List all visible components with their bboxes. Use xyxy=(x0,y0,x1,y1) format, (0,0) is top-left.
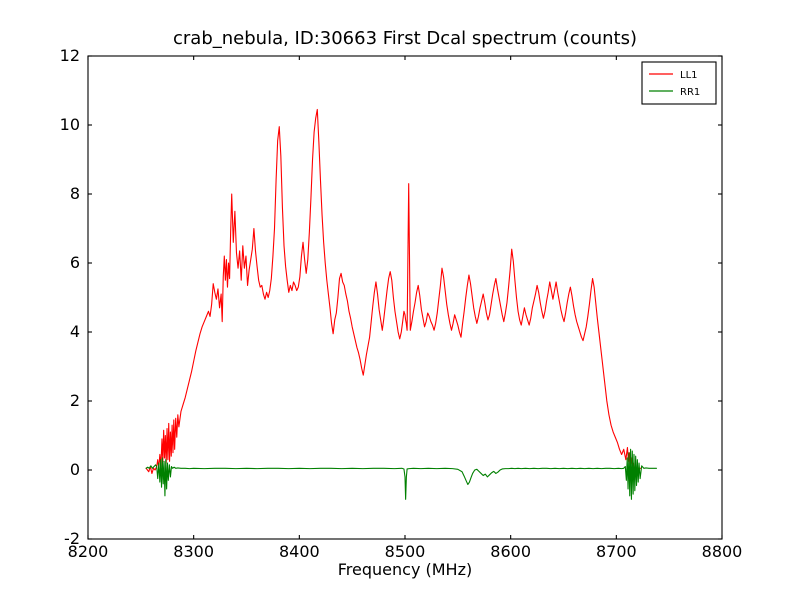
x-tick-label: 8600 xyxy=(490,542,531,561)
y-tick-label: 12 xyxy=(60,46,80,65)
y-tick-label: 2 xyxy=(70,391,80,410)
y-tick-label: 10 xyxy=(60,115,80,134)
legend-label-ll1: LL1 xyxy=(680,70,698,81)
y-tick-label: 0 xyxy=(70,460,80,479)
y-tick-label: 6 xyxy=(70,253,80,272)
y-tick-label: 8 xyxy=(70,184,80,203)
legend-box xyxy=(642,62,716,104)
x-tick-label: 8700 xyxy=(596,542,637,561)
x-tick-label: 8400 xyxy=(279,542,320,561)
legend: LL1RR1 xyxy=(642,62,716,104)
y-tick-label: -2 xyxy=(64,529,80,548)
spectrum-plot: crab_nebula, ID:30663 First Dcal spectru… xyxy=(0,0,800,600)
x-tick-label: 8800 xyxy=(702,542,743,561)
figure-canvas: crab_nebula, ID:30663 First Dcal spectru… xyxy=(0,0,800,600)
page-title: crab_nebula, ID:30663 First Dcal spectru… xyxy=(173,28,637,49)
x-axis-label: Frequency (MHz) xyxy=(338,560,472,579)
y-tick-label: 4 xyxy=(70,322,80,341)
x-tick-label: 8500 xyxy=(385,542,426,561)
x-tick-label: 8300 xyxy=(173,542,214,561)
legend-label-rr1: RR1 xyxy=(680,87,700,98)
